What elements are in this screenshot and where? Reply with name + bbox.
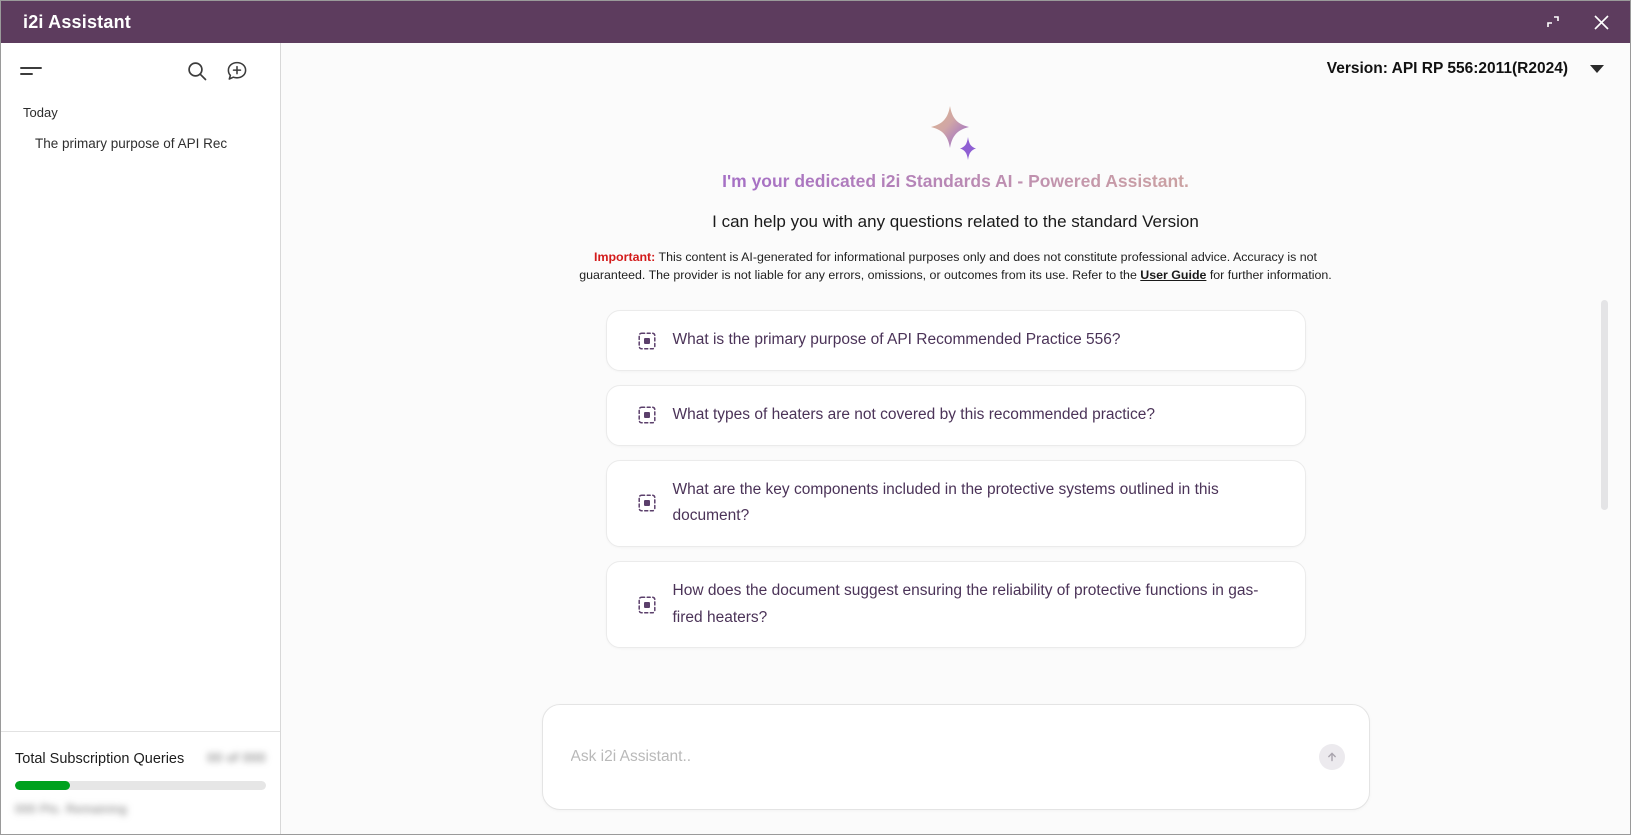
menu-collapse-button[interactable] (19, 62, 43, 80)
subscription-panel: Total Subscription Queries 00 of 000 000… (1, 731, 280, 834)
version-bar: Version: API RP 556:2011(R2024) (281, 43, 1630, 95)
search-icon (186, 60, 208, 82)
send-button[interactable] (1319, 744, 1345, 770)
sparkle-logo-icon (925, 104, 987, 164)
disclaimer-text: Important: This content is AI-generated … (571, 248, 1341, 284)
new-chat-icon (226, 60, 248, 82)
subscription-title: Total Subscription Queries (15, 748, 184, 771)
version-label: Version: API RP 556:2011(R2024) (1327, 60, 1568, 78)
user-guide-link[interactable]: User Guide (1140, 268, 1206, 282)
app-body: Today The primary purpose of API Rec Tot… (1, 43, 1630, 834)
suggestion-text: What is the primary purpose of API Recom… (673, 327, 1121, 354)
suggestion-card[interactable]: What are the key components included in … (606, 460, 1306, 547)
chat-input[interactable] (571, 748, 1309, 766)
app-title: i2i Assistant (23, 12, 131, 33)
subscription-count: 00 of 000 (207, 748, 266, 765)
disclaimer-part2: for further information. (1206, 268, 1331, 282)
restore-down-icon (1545, 14, 1561, 30)
menu-collapse-icon (19, 62, 43, 80)
version-selector[interactable]: Version: API RP 556:2011(R2024) (1327, 60, 1604, 78)
disclaimer-important-label: Important: (594, 250, 655, 264)
main-panel: Version: API RP 556:2011(R2024) (281, 43, 1630, 834)
suggestion-card[interactable]: What types of heaters are not covered by… (606, 385, 1306, 446)
chat-history-list: The primary purpose of API Rec (1, 120, 280, 731)
prompt-suggestion-icon (637, 405, 657, 425)
suggestion-text: What are the key components included in … (673, 477, 1283, 530)
suggestion-text: How does the document suggest ensuring t… (673, 578, 1283, 631)
suggestion-card[interactable]: How does the document suggest ensuring t… (606, 561, 1306, 648)
app-window: i2i Assistant (0, 0, 1631, 835)
suggestions-list: What is the primary purpose of API Recom… (606, 300, 1306, 648)
sparkle-logo (281, 101, 1630, 167)
suggestions-scrollbar[interactable] (1601, 300, 1608, 690)
chevron-down-icon (1590, 65, 1604, 73)
prompt-suggestion-icon (637, 493, 657, 513)
prompt-suggestion-icon (637, 331, 657, 351)
subscription-header: Total Subscription Queries 00 of 000 (15, 748, 266, 771)
prompt-suggestion-icon (637, 493, 657, 513)
subscription-remaining-label: 000 Pts. Remaining (15, 802, 266, 816)
welcome-block: I'm your dedicated i2i Standards AI - Po… (281, 95, 1630, 284)
prompt-suggestion-icon (637, 595, 657, 615)
suggestions-scrollbar-thumb[interactable] (1601, 300, 1608, 510)
sidebar-toolbar (1, 43, 280, 99)
suggestion-text: What types of heaters are not covered by… (673, 402, 1155, 429)
subscription-progress-fill (15, 781, 70, 790)
suggestion-card[interactable]: What is the primary purpose of API Recom… (606, 310, 1306, 371)
section-label-today: Today (1, 99, 280, 120)
sidebar-actions (186, 60, 248, 82)
search-button[interactable] (186, 60, 208, 82)
sidebar: Today The primary purpose of API Rec Tot… (1, 43, 281, 834)
suggestions-scroll-area: What is the primary purpose of API Recom… (281, 300, 1630, 690)
chat-history-item[interactable]: The primary purpose of API Rec (9, 132, 272, 155)
window-controls (1538, 8, 1616, 36)
prompt-suggestion-icon (637, 405, 657, 425)
composer-area (281, 690, 1630, 834)
new-chat-button[interactable] (226, 60, 248, 82)
composer[interactable] (542, 704, 1370, 810)
title-bar: i2i Assistant (1, 1, 1630, 43)
send-arrow-up-icon (1324, 749, 1340, 765)
close-button[interactable] (1586, 8, 1616, 36)
subscription-progress-bar (15, 781, 266, 790)
prompt-suggestion-icon (637, 331, 657, 351)
welcome-subline: I can help you with any questions relate… (281, 212, 1630, 232)
restore-down-button[interactable] (1538, 8, 1568, 36)
welcome-headline: I'm your dedicated i2i Standards AI - Po… (281, 171, 1630, 192)
prompt-suggestion-icon (637, 595, 657, 615)
close-icon (1592, 13, 1611, 32)
